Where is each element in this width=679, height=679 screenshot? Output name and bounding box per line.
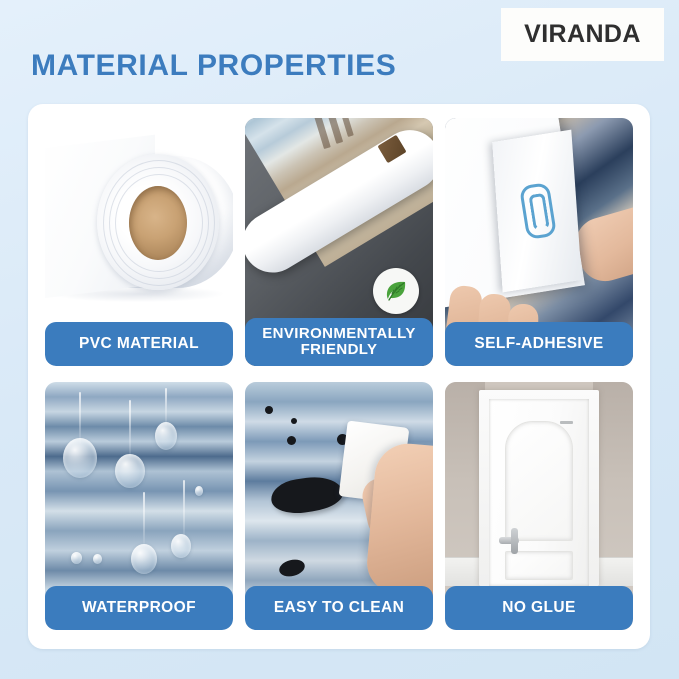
feature-label-line-1: ENVIRONMENTALLY [262, 325, 416, 342]
page-title: MATERIAL PROPERTIES [31, 49, 396, 83]
feature-grid: PVC MATERIAL [45, 118, 633, 630]
feature-card-no-glue: NO GLUE [445, 382, 633, 630]
feature-label-easy-to-clean: EASY TO CLEAN [245, 586, 433, 630]
brand-logo: VIRANDA [501, 8, 664, 61]
feature-card-environmentally-friendly: ENVIRONMENTALLY FRIENDLY [245, 118, 433, 366]
feature-panel: PVC MATERIAL [28, 104, 650, 649]
feature-label-environmentally-friendly: ENVIRONMENTALLY FRIENDLY [245, 318, 433, 366]
feature-card-self-adhesive: SELF-ADHESIVE [445, 118, 633, 366]
feature-label-no-glue: NO GLUE [445, 586, 633, 630]
feature-card-pvc-material: PVC MATERIAL [45, 118, 233, 366]
feature-card-easy-to-clean: EASY TO CLEAN [245, 382, 433, 630]
feature-label-line-2: FRIENDLY [301, 341, 378, 358]
feature-label-pvc-material: PVC MATERIAL [45, 322, 233, 366]
leaf-icon [373, 268, 419, 314]
feature-label-self-adhesive: SELF-ADHESIVE [445, 322, 633, 366]
feature-card-waterproof: WATERPROOF [45, 382, 233, 630]
feature-label-waterproof: WATERPROOF [45, 586, 233, 630]
brand-logo-text: VIRANDA [524, 20, 641, 49]
